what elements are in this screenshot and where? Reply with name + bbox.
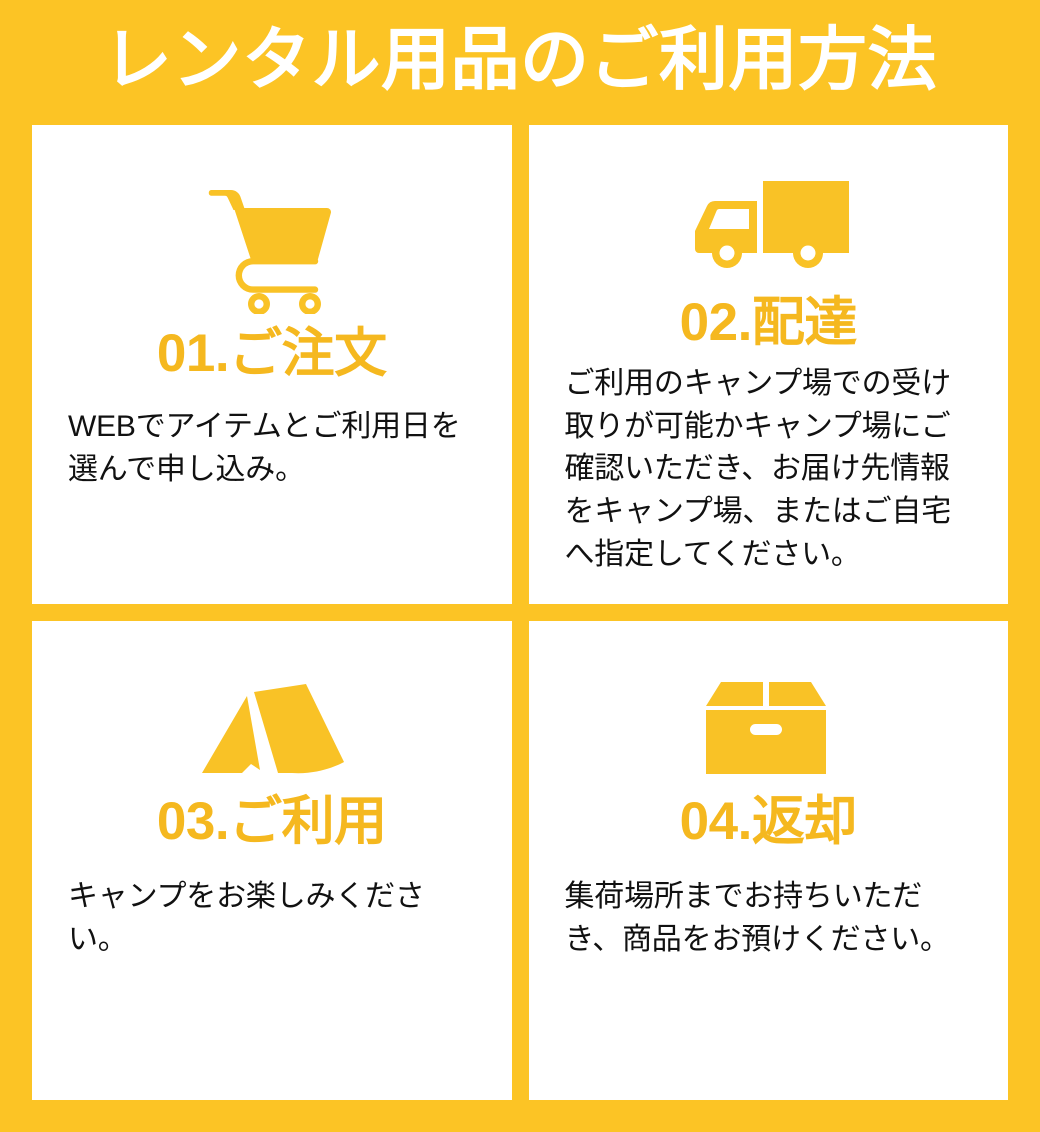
step-heading: 04.返却 <box>680 794 857 850</box>
delivery-truck-icon <box>685 179 851 279</box>
package-box-icon <box>698 676 838 780</box>
step-card-return[interactable]: 04.返却 集荷場所までお持ちいただき、商品をお預けください。 <box>529 621 1009 1100</box>
step-heading: 03.ご利用 <box>157 794 387 850</box>
rental-guide-poster: レンタル用品のご利用方法 <box>0 0 1040 1040</box>
step-card-use[interactable]: 03.ご利用 キャンプをお楽しみください。 <box>32 621 512 1100</box>
step-icon-wrap <box>68 655 476 780</box>
shopping-cart-icon <box>197 174 347 314</box>
step-heading: 01.ご注文 <box>157 326 387 382</box>
step-body: 集荷場所までお持ちいただき、商品をお預けください。 <box>565 876 973 961</box>
step-card-order[interactable]: 01.ご注文 WEBでアイテムとご利用日を選んで申し込み。 <box>32 125 512 604</box>
steps-grid: 01.ご注文 WEBでアイテムとご利用日を選んで申し込み。 <box>0 125 1040 1132</box>
step-card-delivery[interactable]: 02.配達 ご利用のキャンプ場での受け取りが可能かキャンプ場にご確認いただき、お… <box>529 125 1009 604</box>
tent-icon <box>194 678 350 780</box>
step-icon-wrap <box>565 655 973 780</box>
step-body: キャンプをお楽しみください。 <box>68 876 476 961</box>
step-body: ご利用のキャンプ場での受け取りが可能かキャンプ場にご確認いただき、お届け先情報を… <box>565 363 973 576</box>
step-icon-wrap <box>565 159 973 279</box>
step-icon-wrap <box>68 159 476 314</box>
page-title: レンタル用品のご利用方法 <box>103 25 937 94</box>
step-heading: 02.配達 <box>680 295 857 351</box>
step-body: WEBでアイテムとご利用日を選んで申し込み。 <box>68 406 476 491</box>
poster-header: レンタル用品のご利用方法 <box>0 0 1040 125</box>
